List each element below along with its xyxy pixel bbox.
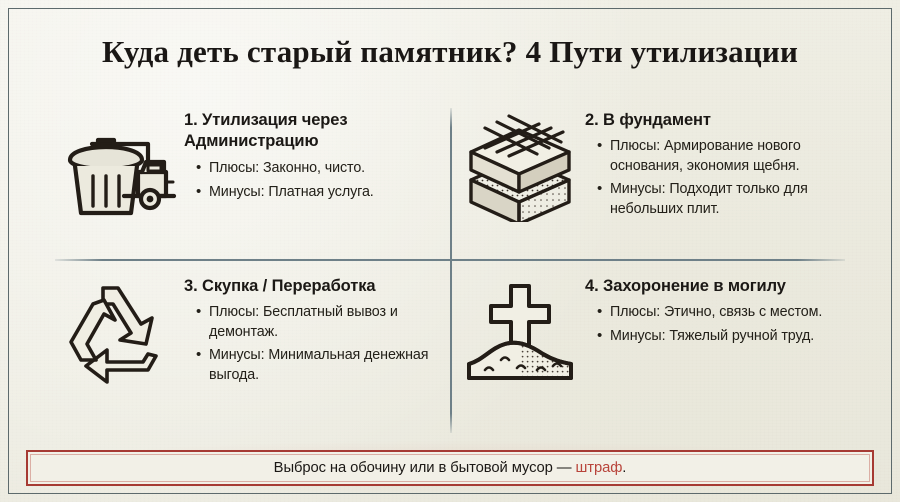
list-item: Плюсы: Армирование нового основания, эко… — [597, 137, 847, 176]
recycling-symbol-icon — [58, 274, 184, 394]
option-1-bullets: Плюсы: Законно, чисто. Минусы: Платная у… — [184, 159, 450, 202]
list-item: Плюсы: Этично, связь с местом. — [597, 303, 847, 323]
grave-with-cross-icon — [455, 274, 585, 392]
option-3-bullets: Плюсы: Бесплатный вывоз и демонтаж. Мину… — [184, 303, 450, 385]
options-grid: 1. Утилизация через Администрацию Плюсы:… — [0, 104, 900, 434]
list-item: Плюсы: Бесплатный вывоз и демонтаж. — [196, 303, 450, 342]
option-1-text: 1. Утилизация через Администрацию Плюсы:… — [184, 108, 450, 202]
concrete-foundation-slab-icon — [455, 108, 585, 222]
list-item: Минусы: Платная услуга. — [196, 183, 450, 203]
penalty-word: штраф — [576, 460, 623, 476]
list-item: Минусы: Тяжелый ручной труд. — [597, 327, 847, 347]
option-2-bullets: Плюсы: Армирование нового основания, эко… — [585, 137, 847, 219]
trash-bin-and-garbage-truck-icon — [58, 108, 184, 218]
option-2-heading: 2. В фундамент — [585, 110, 847, 131]
page-title: Куда деть старый памятник? 4 Пути утилиз… — [0, 34, 900, 70]
warning-text-before: Выброс на обочину или в бытовой мусор — — [274, 460, 576, 476]
option-3-heading: 3. Скупка / Переработка — [184, 276, 450, 297]
option-card-2: 2. В фундамент Плюсы: Армирование нового… — [455, 108, 847, 263]
option-1-heading: 1. Утилизация через Администрацию — [184, 110, 450, 152]
option-3-text: 3. Скупка / Переработка Плюсы: Бесплатны… — [184, 274, 450, 385]
warning-banner: Выброс на обочину или в бытовой мусор — … — [26, 450, 874, 486]
option-card-4: 4. Захоронение в могилу Плюсы: Этично, с… — [455, 274, 847, 434]
list-item: Плюсы: Законно, чисто. — [196, 159, 450, 179]
option-card-1: 1. Утилизация через Администрацию Плюсы:… — [58, 108, 450, 263]
option-4-heading: 4. Захоронение в могилу — [585, 276, 847, 297]
option-card-3: 3. Скупка / Переработка Плюсы: Бесплатны… — [58, 274, 450, 434]
warning-text-after: . — [622, 460, 626, 476]
option-4-text: 4. Захоронение в могилу Плюсы: Этично, с… — [585, 274, 847, 346]
list-item: Минусы: Минимальная денежная выгода. — [196, 346, 450, 385]
option-2-text: 2. В фундамент Плюсы: Армирование нового… — [585, 108, 847, 219]
option-4-bullets: Плюсы: Этично, связь с местом. Минусы: Т… — [585, 303, 847, 346]
warning-banner-text: Выброс на обочину или в бытовой мусор — … — [274, 460, 627, 476]
list-item: Минусы: Подходит только для небольших пл… — [597, 180, 847, 219]
infographic-poster: Куда деть старый памятник? 4 Пути утилиз… — [0, 0, 900, 502]
